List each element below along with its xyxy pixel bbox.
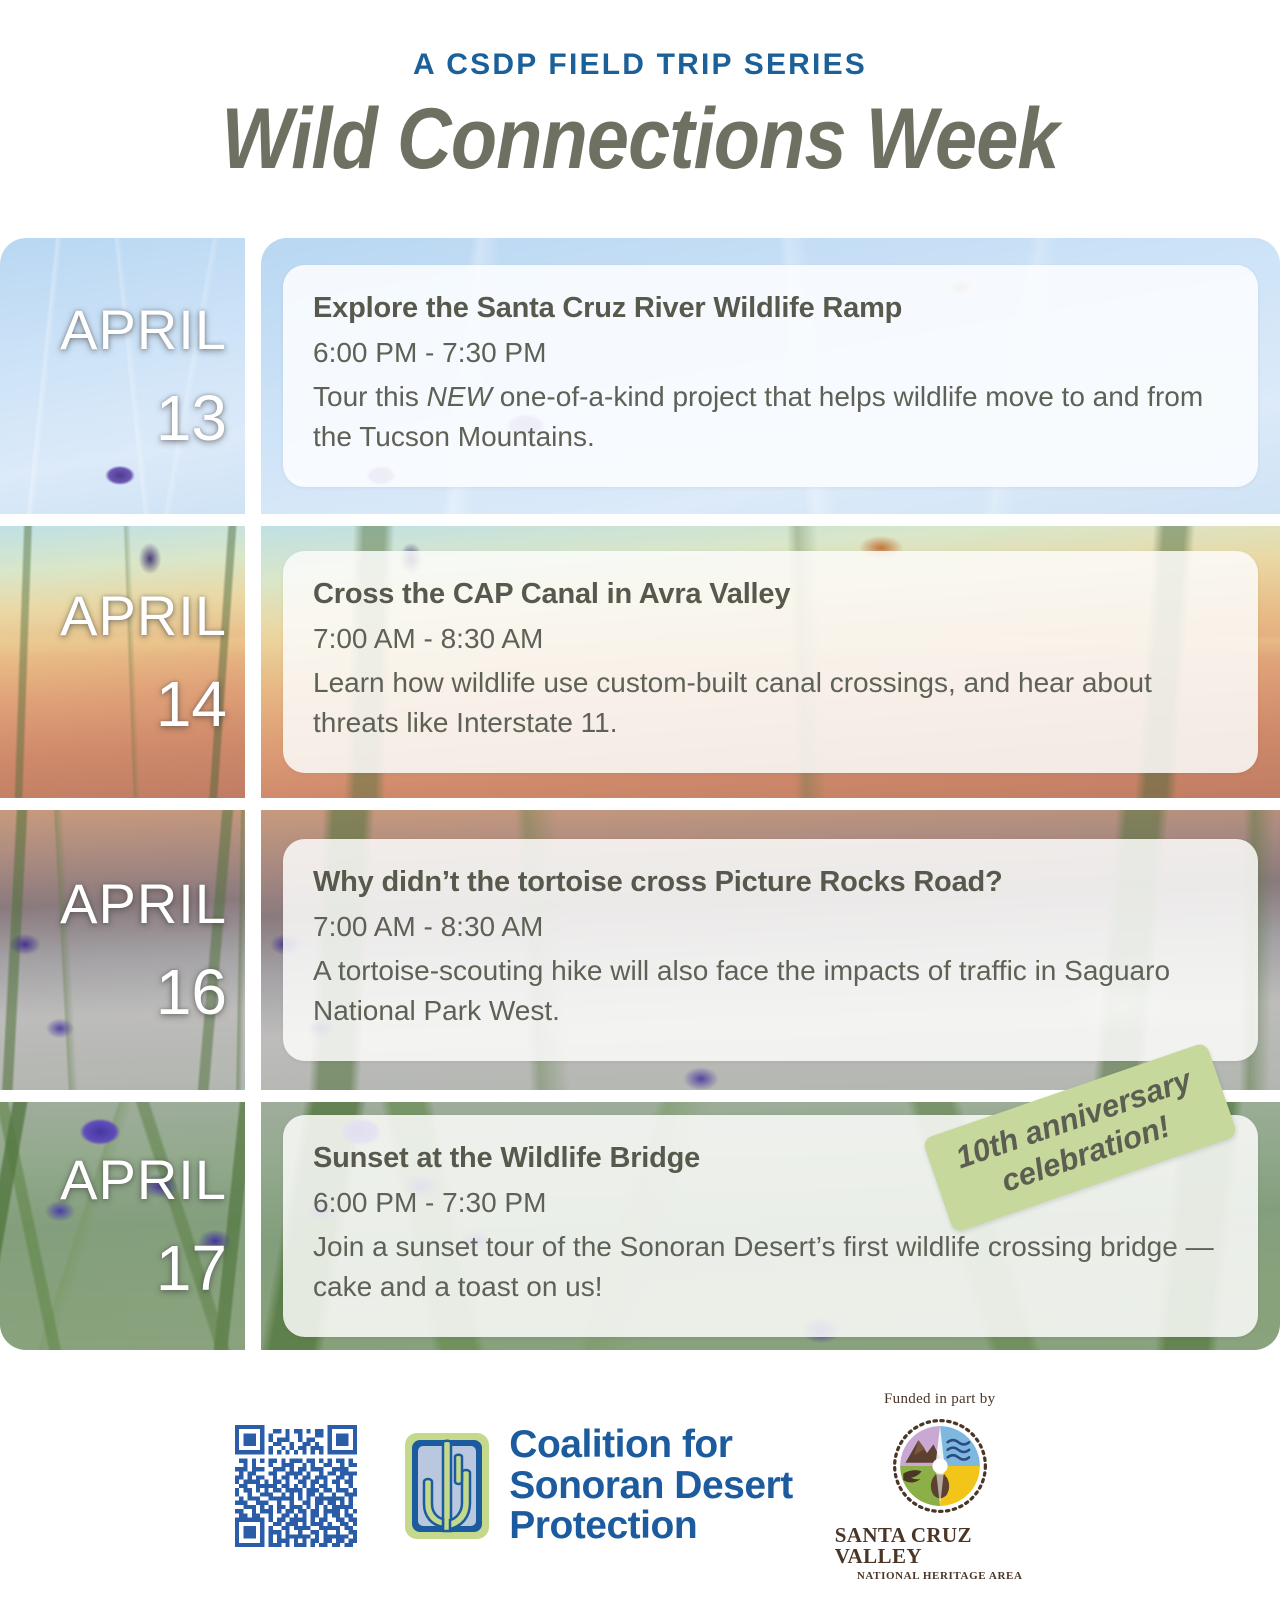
event-description: Learn how wildlife use custom-built cana… [313,663,1228,743]
event-time: 6:00 PM - 7:30 PM [313,335,1228,370]
card-area: Cross the CAP Canal in Avra Valley 7:00 … [261,526,1280,798]
csdp-line-2: Sonoran Desert [509,1466,792,1507]
date-day: 13 [156,386,227,450]
csdp-line-3: Protection [509,1506,792,1547]
date-month: APRIL [60,876,227,932]
csdp-logo: Coalition for Sonoran Desert Protection [399,1425,792,1547]
event-time: 6:00 PM - 7:30 PM [313,1185,1228,1220]
background-photo-lupine [0,1102,245,1350]
row-gap [245,1102,261,1350]
date-block: APRIL 17 [0,1102,245,1350]
card-area: Explore the Santa Cruz River Wildlife Ra… [261,238,1280,514]
card-area: Why didn’t the tortoise cross Picture Ro… [261,810,1280,1090]
event-title: Why didn’t the tortoise cross Picture Ro… [313,865,1228,900]
event-description-emphasis: NEW [427,381,492,412]
event-time: 7:00 AM - 8:30 AM [313,909,1228,944]
background-photo-sky [0,238,245,514]
date-day: 14 [156,672,227,736]
date-month: APRIL [60,302,227,358]
date-day: 17 [156,1236,227,1300]
date-block: APRIL 14 [0,526,245,798]
saguaro-cactus-icon [399,1427,495,1545]
event-time: 7:00 AM - 8:30 AM [313,621,1228,656]
heritage-seal-icon [886,1412,994,1520]
event-description: Tour this NEW one-of-a-kind project that… [313,377,1228,457]
date-day: 16 [156,960,227,1024]
event-card[interactable]: Why didn’t the tortoise cross Picture Ro… [283,839,1258,1060]
event-row: APRIL 14 Cross the CAP Canal in Avra Val… [0,526,1280,798]
santa-cruz-valley-logo: Funded in part by [835,1391,1045,1582]
background-photo-rocks [0,810,245,1090]
event-row: APRIL 16 Why didn’t the tortoise cross P… [0,810,1280,1090]
event-description: A tortoise-scouting hike will also face … [313,951,1228,1031]
poster-header: A CSDP FIELD TRIP SERIES Wild Connection… [0,0,1280,238]
row-gap [245,810,261,1090]
date-block: APRIL 13 [0,238,245,514]
poster: A CSDP FIELD TRIP SERIES Wild Connection… [0,0,1280,1600]
eyebrow-text: A CSDP FIELD TRIP SERIES [0,50,1280,80]
qr-code-icon[interactable] [235,1425,357,1547]
row-gap [245,238,261,514]
event-description-before: Tour this [313,381,427,412]
background-photo-sunset [0,526,245,798]
scv-subtitle: NATIONAL HERITAGE AREA [857,1570,1023,1582]
row-gap [245,526,261,798]
date-month: APRIL [60,1152,227,1208]
event-title: Cross the CAP Canal in Avra Valley [313,577,1228,612]
event-row: APRIL 13 Explore the Santa Cruz River Wi… [0,238,1280,514]
csdp-line-1: Coalition for [509,1425,792,1466]
scv-name: SANTA CRUZ VALLEY [835,1525,1045,1567]
event-card[interactable]: Explore the Santa Cruz River Wildlife Ra… [283,265,1258,486]
event-card[interactable]: Cross the CAP Canal in Avra Valley 7:00 … [283,551,1258,772]
poster-footer: Coalition for Sonoran Desert Protection … [0,1372,1280,1600]
event-description: Join a sunset tour of the Sonoran Desert… [313,1227,1228,1307]
event-title: Explore the Santa Cruz River Wildlife Ra… [313,291,1228,326]
date-month: APRIL [60,588,227,644]
page-title: Wild Connections Week [77,94,1203,184]
csdp-wordmark: Coalition for Sonoran Desert Protection [509,1425,792,1547]
funded-by-label: Funded in part by [884,1391,995,1408]
date-block: APRIL 16 [0,810,245,1090]
